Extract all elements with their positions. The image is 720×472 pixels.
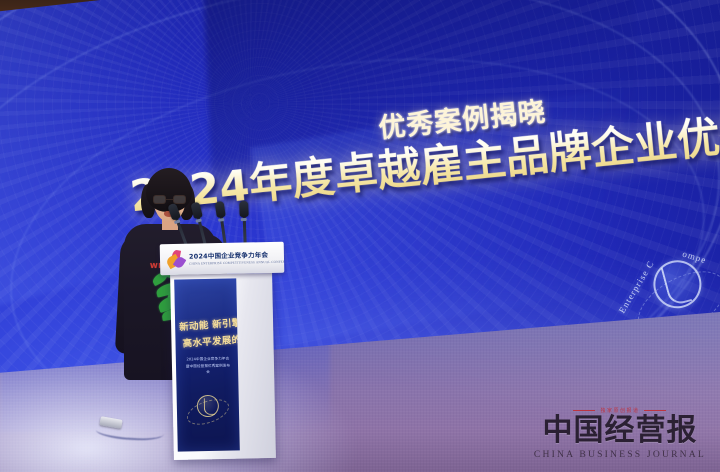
podium-plate-subtitle: CHINA ENTERPRISE COMPETITIVENESS ANNUAL …: [189, 260, 284, 266]
panel-brand-logo-icon: [191, 391, 226, 426]
podium-front-panel: 新动能 新引擎 高水平发展的新动力 2024中国企业竞争力年会 暨中国经营报优秀…: [174, 278, 240, 451]
panel-small-line-2: 暨中国经营报优秀案例发布会: [184, 363, 232, 376]
panel-small-line-1: 2024中国企业竞争力年会: [184, 356, 232, 363]
watermark-dash-right: [644, 410, 666, 411]
watermark-title: 中国经营报: [534, 416, 706, 446]
event-photo-scene: 中国企业竞争力年会 Enterprise C ompe 优秀案例揭晓 2024年…: [0, 0, 720, 472]
watermark-english: CHINA BUSINESS JOURNAL: [534, 449, 706, 460]
podium-name-plate: 2024中国企业竞争力年会 CHINA ENTERPRISE COMPETITI…: [160, 242, 285, 276]
watermark: 独家原创报道 中国经营报 CHINA BUSINESS JOURNAL: [534, 407, 706, 460]
podium: 2024中国企业竞争力年会 CHINA ENTERPRISE COMPETITI…: [144, 243, 290, 472]
conference-logo-icon: [166, 250, 185, 269]
watermark-dash-left: [573, 410, 595, 411]
